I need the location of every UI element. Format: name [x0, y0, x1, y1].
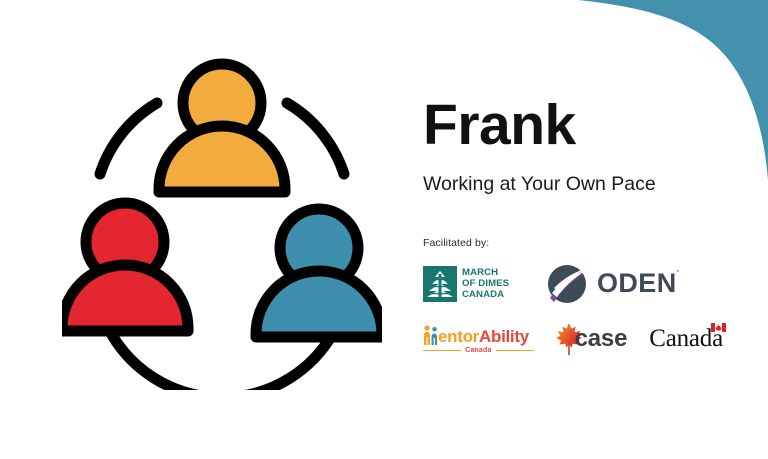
mod-line-2: OF DIMES: [462, 278, 509, 289]
oden-wordmark: ODEN·: [597, 270, 680, 297]
person-right-blue: [256, 209, 382, 337]
slide-content: Frank Working at Your Own Pace Facilitat…: [423, 96, 723, 356]
page-title: Frank: [423, 96, 723, 155]
three-people-network-icon: [62, 52, 382, 390]
march-of-dimes-wordmark: MARCH OF DIMES CANADA: [462, 267, 509, 301]
logo-case: case: [556, 322, 628, 356]
person-left-red: [62, 203, 188, 331]
canada-flag-icon: [711, 323, 726, 332]
logo-row-primary: MARCH OF DIMES CANADA ODEN·: [423, 262, 723, 306]
logo-oden: ODEN·: [543, 262, 680, 306]
oden-text: ODEN: [597, 268, 677, 298]
pine-tree-square-icon: [423, 266, 457, 302]
logo-government-of-canada: Canada: [649, 326, 723, 351]
logo-mentorability-canada: entorAbility Canada: [423, 324, 534, 354]
mod-line-1: MARCH: [462, 267, 509, 278]
case-wordmark: case: [575, 327, 628, 351]
person-top-orange: [159, 64, 285, 192]
logo-march-of-dimes-canada: MARCH OF DIMES CANADA: [423, 266, 527, 302]
facilitated-by-label: Facilitated by:: [423, 237, 723, 249]
people-m-letter-icon: [423, 324, 438, 345]
slide-subtitle: Working at Your Own Pace: [423, 172, 723, 196]
presentation-slide: Frank Working at Your Own Pace Facilitat…: [0, 0, 768, 459]
mod-line-3: CANADA: [462, 289, 509, 300]
mentorability-sub: Canada: [423, 347, 534, 354]
mentor-rule-left: [423, 350, 461, 351]
mentorability-wordmark: entorAbility: [423, 324, 534, 345]
mentor-rule-right: [496, 350, 534, 351]
oden-trademark: ·: [677, 266, 680, 276]
logo-row-secondary: entorAbility Canada: [423, 322, 723, 356]
mentor-canada-label: Canada: [465, 347, 492, 354]
mentor-word-part-1: entor: [438, 328, 479, 345]
mentor-word-part-2: Ability: [479, 328, 529, 345]
circle-swoosh-icon: [543, 262, 591, 306]
